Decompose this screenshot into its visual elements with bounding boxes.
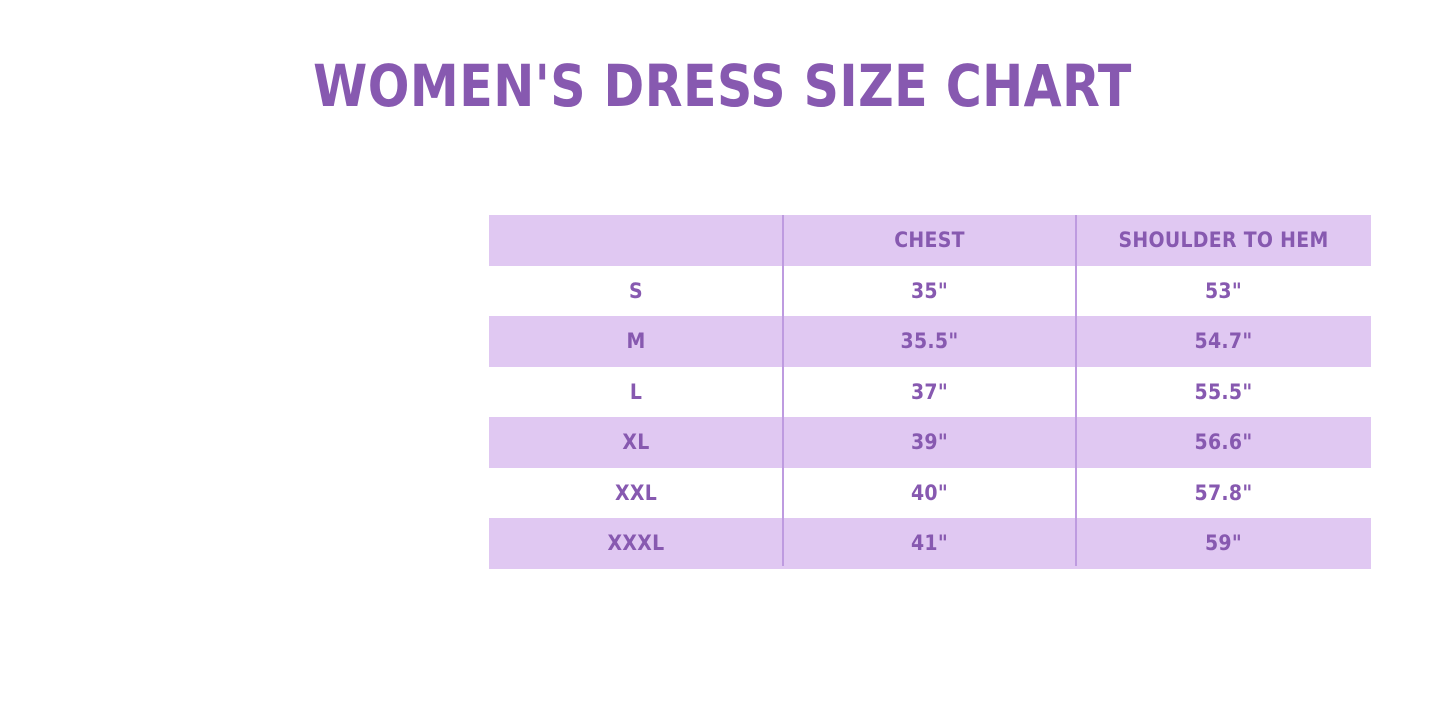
table-row: XXL 40" 57.8" bbox=[489, 468, 1371, 519]
table-row: XXXL 41" 59" bbox=[489, 518, 1371, 569]
cell-size: XXXL bbox=[489, 518, 783, 569]
size-chart-table: CHEST SHOULDER TO HEM S 35" 53" M 35.5" … bbox=[489, 215, 1371, 569]
table-header: CHEST SHOULDER TO HEM bbox=[489, 215, 1371, 266]
cell-size: L bbox=[489, 367, 783, 418]
cell-chest: 35" bbox=[783, 266, 1076, 317]
table-row: XL 39" 56.6" bbox=[489, 417, 1371, 468]
cell-hem: 56.6" bbox=[1076, 417, 1371, 468]
page-title: WOMEN'S DRESS SIZE CHART bbox=[43, 55, 1401, 119]
cell-size: S bbox=[489, 266, 783, 317]
table-row: L 37" 55.5" bbox=[489, 367, 1371, 418]
cell-chest: 35.5" bbox=[783, 316, 1076, 367]
cell-hem: 57.8" bbox=[1076, 468, 1371, 519]
column-divider-1 bbox=[782, 215, 784, 566]
cell-chest: 37" bbox=[783, 367, 1076, 418]
column-divider-2 bbox=[1075, 215, 1077, 566]
cell-chest: 41" bbox=[783, 518, 1076, 569]
cell-hem: 55.5" bbox=[1076, 367, 1371, 418]
cell-chest: 40" bbox=[783, 468, 1076, 519]
cell-hem: 54.7" bbox=[1076, 316, 1371, 367]
header-cell-chest: CHEST bbox=[783, 215, 1076, 266]
cell-size: M bbox=[489, 316, 783, 367]
cell-hem: 59" bbox=[1076, 518, 1371, 569]
table-row: M 35.5" 54.7" bbox=[489, 316, 1371, 367]
cell-size: XL bbox=[489, 417, 783, 468]
header-cell-size bbox=[489, 215, 783, 266]
table-body: S 35" 53" M 35.5" 54.7" L 37" 55.5" XL 3… bbox=[489, 266, 1371, 569]
table-row: S 35" 53" bbox=[489, 266, 1371, 317]
cell-size: XXL bbox=[489, 468, 783, 519]
cell-chest: 39" bbox=[783, 417, 1076, 468]
cell-hem: 53" bbox=[1076, 266, 1371, 317]
table-header-row: CHEST SHOULDER TO HEM bbox=[489, 215, 1371, 266]
page-canvas: WOMEN'S DRESS SIZE CHART CHEST SHOULDER … bbox=[0, 0, 1445, 723]
header-cell-shoulder-to-hem: SHOULDER TO HEM bbox=[1076, 215, 1371, 266]
